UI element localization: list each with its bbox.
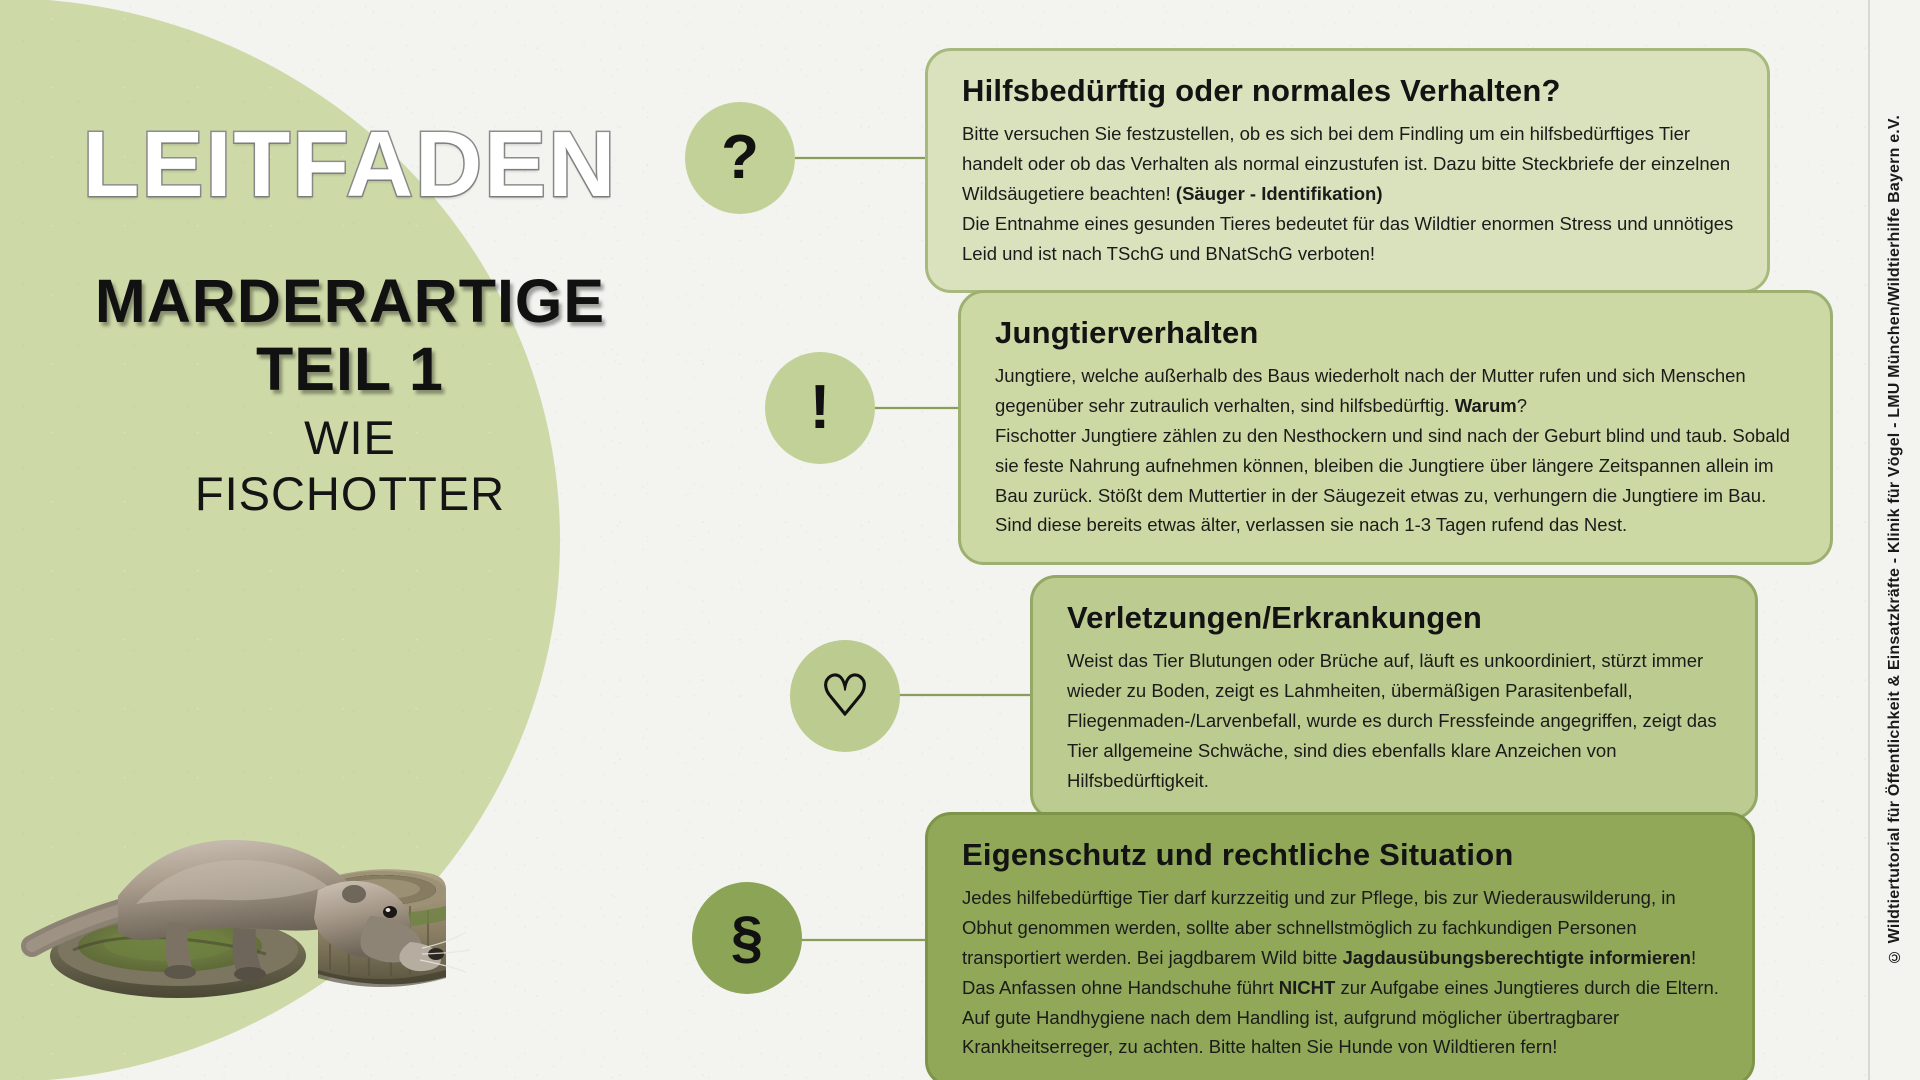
card-eigenschutz: Eigenschutz und rechtliche Situation Jed… bbox=[925, 812, 1755, 1080]
card-paragraph: Fischotter Jungtiere zählen zu den Nesth… bbox=[995, 421, 1800, 541]
otter-photo bbox=[18, 678, 598, 1018]
card-paragraph: Die Entnahme eines gesunden Tieres bedeu… bbox=[962, 209, 1737, 269]
card-body: Jungtiere, welche außerhalb des Baus wie… bbox=[995, 361, 1800, 541]
page-title: LEITFADEN bbox=[0, 118, 700, 211]
card-title: Jungtierverhalten bbox=[995, 315, 1800, 351]
subtitle-species: MARDERARTIGE TEIL 1 bbox=[0, 267, 700, 404]
subtitle-species-line2: TEIL 1 bbox=[0, 335, 700, 403]
card-paragraph: Das Anfassen ohne Handschuhe führt NICHT… bbox=[962, 973, 1722, 1063]
card-body: Bitte versuchen Sie festzustellen, ob es… bbox=[962, 119, 1737, 269]
card-title: Verletzungen/Erkrankungen bbox=[1067, 600, 1725, 636]
card-hilfsbeduerftig: Hilfsbedürftig oder normales Verhalten? … bbox=[925, 48, 1770, 293]
card-body: Jedes hilfebedürftige Tier darf kurzzeit… bbox=[962, 883, 1722, 1063]
subtitle-species-line1: MARDERARTIGE bbox=[0, 267, 700, 335]
card-paragraph: Bitte versuchen Sie festzustellen, ob es… bbox=[962, 119, 1737, 209]
subtitle-example-line2: FISCHOTTER bbox=[0, 466, 700, 522]
subtitle-example: WIE FISCHOTTER bbox=[0, 410, 700, 523]
card-title: Eigenschutz und rechtliche Situation bbox=[962, 837, 1722, 873]
title-block: LEITFADEN MARDERARTIGE TEIL 1 WIE FISCHO… bbox=[0, 118, 700, 522]
bubble-heart: ♡ bbox=[790, 640, 900, 752]
card-jungtierverhalten: Jungtierverhalten Jungtiere, welche auße… bbox=[958, 290, 1833, 565]
card-title: Hilfsbedürftig oder normales Verhalten? bbox=[962, 73, 1737, 109]
credit-text: © Wildtiertutorial für Öffentlichkeit & … bbox=[1886, 115, 1904, 965]
subtitle-example-line1: WIE bbox=[0, 410, 700, 466]
exclamation-mark-icon: ! bbox=[810, 377, 831, 439]
card-verletzungen: Verletzungen/Erkrankungen Weist das Tier… bbox=[1030, 575, 1758, 820]
card-body: Weist das Tier Blutungen oder Brüche auf… bbox=[1067, 646, 1725, 796]
card-paragraph: Jungtiere, welche außerhalb des Baus wie… bbox=[995, 361, 1800, 421]
heart-icon: ♡ bbox=[820, 668, 870, 724]
question-mark-icon: ? bbox=[721, 127, 759, 189]
bubble-question: ? bbox=[685, 102, 795, 214]
bubble-exclamation: ! bbox=[765, 352, 875, 464]
card-paragraph: Jedes hilfebedürftige Tier darf kurzzeit… bbox=[962, 883, 1722, 973]
credit-strip: © Wildtiertutorial für Öffentlichkeit & … bbox=[1868, 0, 1920, 1080]
card-paragraph: Weist das Tier Blutungen oder Brüche auf… bbox=[1067, 646, 1725, 796]
paragraph-law-icon: § bbox=[731, 909, 763, 967]
bubble-law: § bbox=[692, 882, 802, 994]
